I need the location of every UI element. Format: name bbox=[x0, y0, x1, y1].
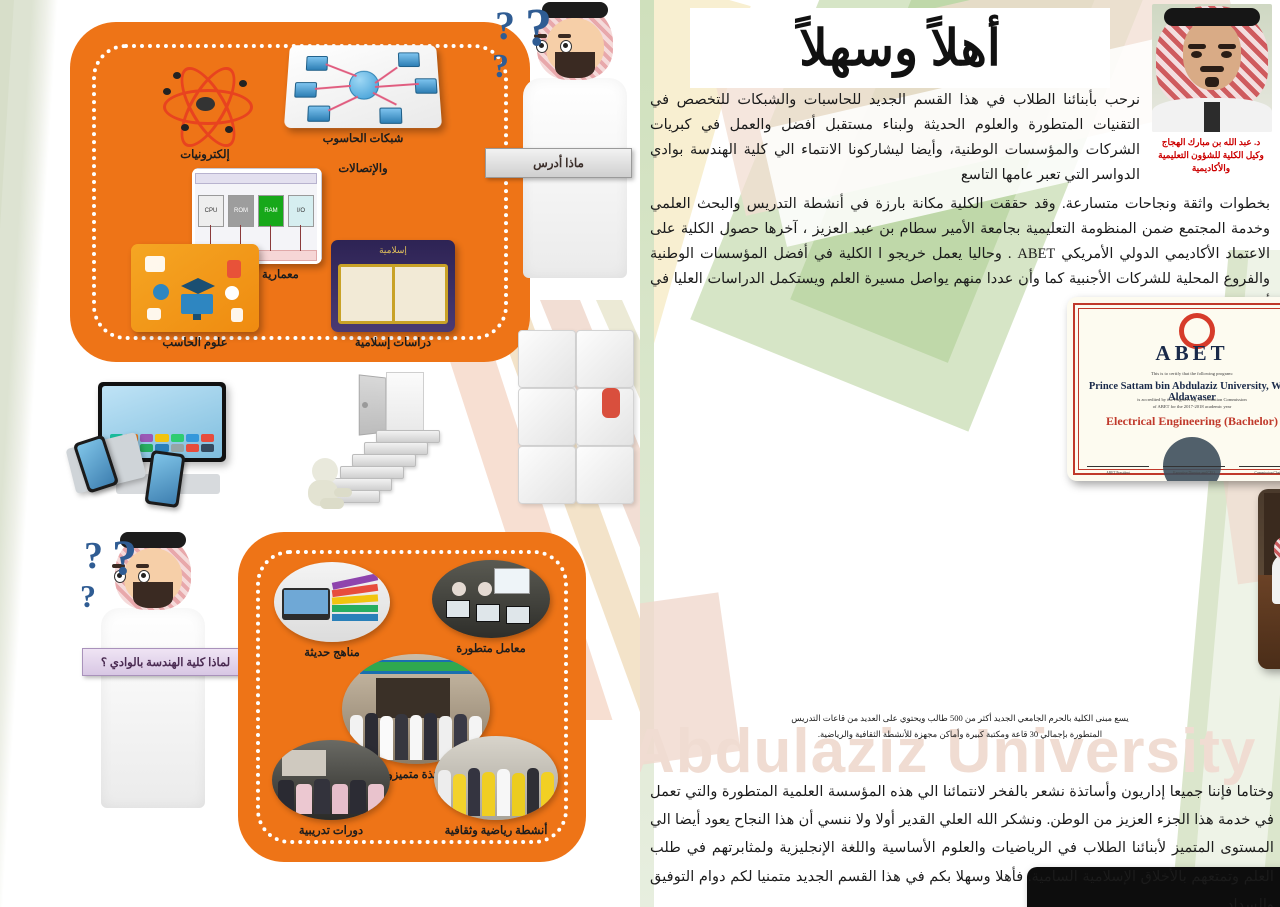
devices-photo bbox=[60, 382, 240, 502]
tile-label-computer-science: علوم الحاسب bbox=[120, 336, 270, 352]
dean-caption: د. عبد الله بن مبارك الهجاج وكيل الكلية … bbox=[1152, 136, 1270, 175]
question-mark-icon-2: ? bbox=[525, 0, 552, 58]
door-icon bbox=[358, 372, 422, 434]
what-do-i-study-panel: إلكترونيات bbox=[70, 22, 530, 362]
welcome-heading: أهلاً وسهلاً bbox=[690, 8, 1110, 88]
cert-certify-line: This is to certify that the following pr… bbox=[1093, 371, 1280, 376]
brochure-page: إلكترونيات bbox=[0, 0, 1280, 907]
atom-icon bbox=[159, 64, 251, 144]
question-mark-icon-5: ? bbox=[112, 528, 137, 586]
tile-label-training-courses: دورات تدريبية bbox=[268, 824, 394, 840]
stairs-to-door-illustration bbox=[300, 372, 500, 532]
tile-modern-curricula: مناهج حديثة bbox=[270, 562, 394, 662]
left-green-edge-decoration bbox=[0, 0, 58, 907]
e-learning-icon bbox=[131, 244, 259, 332]
tile-sports-activities: أنشطة رياضية وثقافية bbox=[428, 736, 564, 840]
question-mark-icon-6: ? bbox=[80, 578, 96, 615]
abet-wordmark: ABET bbox=[1067, 341, 1280, 366]
cert-signature-1: ABET President bbox=[1087, 471, 1149, 475]
tile-label-electronics: إلكترونيات bbox=[150, 148, 260, 164]
network-icon bbox=[284, 45, 442, 128]
photos-caption-line2: المتطورة بإجمالي 30 قاعة ومكتبة كبيرة وأ… bbox=[760, 726, 1160, 742]
question-mark-icon-3: ? bbox=[492, 48, 509, 86]
closing-paragraph: وختاما فإننا جميعا إداريون وأساتذة نشعر … bbox=[650, 778, 1274, 907]
tile-training-courses: دورات تدريبية bbox=[268, 740, 394, 840]
photos-caption: يسع مبنى الكلية بالحرم الجامعي الجديد أك… bbox=[760, 710, 1160, 742]
dean-title-line2: والأكاديمية bbox=[1152, 162, 1270, 175]
tile-advanced-labs: معامل متطورة bbox=[428, 560, 554, 658]
left-pane: إلكترونيات bbox=[0, 0, 640, 907]
question-mark-icon-4: ? bbox=[84, 534, 103, 578]
tile-computer-science: علوم الحاسب bbox=[120, 244, 270, 352]
question-mark-icon-1: ? bbox=[495, 2, 515, 49]
cert-accredited-line-2: of ABET for the 2017-2018 academic year bbox=[1093, 404, 1280, 409]
cert-program: Electrical Engineering (Bachelor) bbox=[1079, 414, 1280, 429]
tile-label-islamic-studies: دراسات إسلامية bbox=[318, 336, 468, 352]
why-this-college-panel: مناهج حديثة معامل متطورة bbox=[238, 532, 586, 862]
tile-electronics: إلكترونيات bbox=[150, 64, 260, 164]
right-pane: Abdulaziz University أهلاً وسهلاً د. عبد… bbox=[640, 0, 1280, 907]
cert-signature-2: Executive Director and CEO bbox=[1163, 471, 1225, 475]
puzzle-red-piece bbox=[602, 388, 620, 418]
cert-accredited-line-1: is accredited by the Engineering Accredi… bbox=[1093, 397, 1280, 402]
climbing-figure-icon bbox=[306, 458, 352, 518]
quran-book-icon: إسلامية bbox=[331, 240, 455, 332]
cartoon-student-top bbox=[500, 0, 640, 290]
cert-signature-3: Commission Chair bbox=[1239, 471, 1280, 475]
tile-label-sports-activities: أنشطة رياضية وثقافية bbox=[428, 824, 564, 840]
abet-certificate-photo: ABET This is to certify that the followi… bbox=[1067, 297, 1280, 481]
library-study-photo bbox=[1258, 489, 1280, 669]
photos-caption-line1: يسع مبنى الكلية بالحرم الجامعي الجديد أك… bbox=[760, 710, 1160, 726]
tile-networks: شبكات الحاسوب والإتصالات bbox=[278, 42, 448, 177]
puzzle-pieces-illustration bbox=[510, 330, 630, 530]
plaque-what-do-i-study[interactable]: ماذا أدرس bbox=[485, 148, 632, 178]
dean-portrait bbox=[1152, 4, 1272, 132]
tile-islamic-studies: إسلامية دراسات إسلامية bbox=[318, 240, 468, 352]
dean-name: د. عبد الله بن مبارك الهجاج bbox=[1152, 136, 1270, 149]
welcome-paragraph-1: نرحب بأبنائنا الطلاب في هذا القسم الجديد… bbox=[650, 88, 1140, 188]
dean-title-line1: وكيل الكلية للشؤون التعليمية bbox=[1152, 149, 1270, 162]
plaque-why-college-of-engineering[interactable]: لماذا كلية الهندسة بالوادي ؟ bbox=[82, 648, 249, 676]
tile-label-networks-line1: شبكات الحاسوب bbox=[278, 132, 448, 148]
